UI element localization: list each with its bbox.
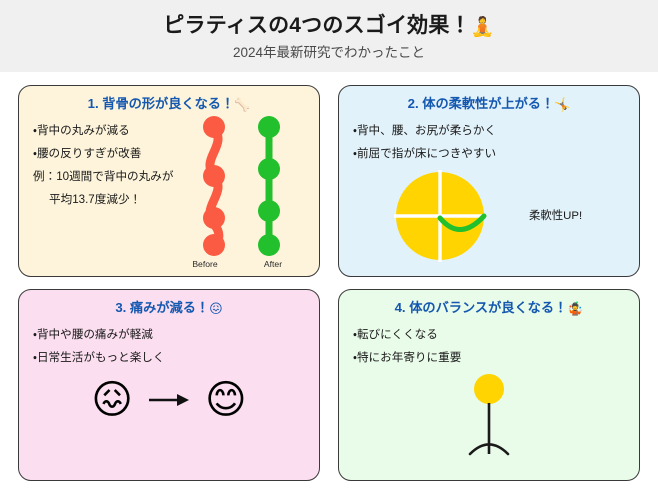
list-item: ・日常生活がもっと楽しく <box>33 351 319 365</box>
list-item: ・前屈で指が床につきやすい <box>353 147 639 161</box>
face-before-icon: 😖 <box>91 380 133 420</box>
spine-after-node <box>258 200 280 222</box>
page-title: ピラティスの4つのスゴイ効果！🧘 <box>163 14 494 39</box>
card-title-text: 4. 体のバランスが良くなる！ <box>395 300 568 315</box>
spine-before-label: Before <box>175 259 235 269</box>
balance-figure <box>339 372 639 462</box>
spine-comparison-figure: Before After <box>181 114 301 269</box>
bone-icon: 🦴 <box>234 97 250 112</box>
confounded-face-icon: 😖 <box>209 301 223 316</box>
list-item: ・特にお年寄りに重要 <box>353 351 639 365</box>
benefit-card-grid: 1. 背骨の形が良くなる！🦴 ・背中の丸みが減る ・腰の反りすぎが改善 例：10… <box>0 72 658 489</box>
spine-before-node <box>203 234 225 256</box>
list-item: ・転びにくくなる <box>353 328 639 342</box>
arrow-right-icon <box>147 392 191 408</box>
balance-head <box>474 374 504 404</box>
juggler-icon: 🤹 <box>567 301 583 316</box>
page-title-text: ピラティスの4つのスゴイ効果！ <box>163 14 470 37</box>
list-item: ・背中や腰の痛みが軽減 <box>33 328 319 342</box>
yoga-icon: 🧘 <box>471 17 495 38</box>
spine-before-node <box>203 207 225 229</box>
bullet-list-flexibility: ・背中、腰、お尻が柔らかく ・前屈で指が床につきやすい <box>339 124 639 161</box>
card-flexibility: 2. 体の柔軟性が上がる！🤸 ・背中、腰、お尻が柔らかく ・前屈で指が床につきや… <box>338 85 640 277</box>
spine-comparison-svg <box>181 114 301 259</box>
card-balance: 4. 体のバランスが良くなる！🤹 ・転びにくくなる ・特にお年寄りに重要 <box>338 289 640 481</box>
card-spine-shape: 1. 背骨の形が良くなる！🦴 ・背中の丸みが減る ・腰の反りすぎが改善 例：10… <box>18 85 320 277</box>
spine-before-node <box>203 116 225 138</box>
card-pain-reduction: 3. 痛みが減る！😖 ・背中や腰の痛みが軽減 ・日常生活がもっと楽しく 😖 😊 <box>18 289 320 481</box>
page-header: ピラティスの4つのスゴイ効果！🧘 2024年最新研究でわかったこと <box>0 0 658 72</box>
balance-figure-svg <box>444 372 534 462</box>
page-subtitle: 2024年最新研究でわかったこと <box>233 46 425 61</box>
card-title-balance: 4. 体のバランスが良くなる！🤹 <box>339 301 639 316</box>
face-transition-figure: 😖 😊 <box>19 380 319 420</box>
gymnast-icon: 🤸 <box>554 97 570 112</box>
card-title-pain-reduction: 3. 痛みが減る！😖 <box>19 301 319 316</box>
spine-after-node <box>258 116 280 138</box>
card-title-flexibility: 2. 体の柔軟性が上がる！🤸 <box>339 97 639 112</box>
flexibility-caption: 柔軟性UP! <box>529 207 582 223</box>
card-title-text: 3. 痛みが減る！ <box>115 300 209 315</box>
card-title-text: 2. 体の柔軟性が上がる！ <box>408 96 555 111</box>
spine-after-graphic <box>258 116 280 256</box>
spine-after-node <box>258 158 280 180</box>
flexibility-figure: 柔軟性UP! <box>387 166 627 270</box>
spine-after-node <box>258 234 280 256</box>
list-item: ・背中、腰、お尻が柔らかく <box>353 124 639 138</box>
spine-after-label: After <box>243 259 303 269</box>
bullet-list-balance: ・転びにくくなる ・特にお年寄りに重要 <box>339 328 639 365</box>
flexibility-circle-svg <box>387 166 517 266</box>
card-title-spine-shape: 1. 背骨の形が良くなる！🦴 <box>19 97 319 112</box>
arrow-head <box>177 394 189 406</box>
spine-before-graphic <box>203 116 225 256</box>
bullet-list-pain-reduction: ・背中や腰の痛みが軽減 ・日常生活がもっと楽しく <box>19 328 319 365</box>
card-title-text: 1. 背骨の形が良くなる！ <box>88 96 235 111</box>
spine-before-node <box>203 165 225 187</box>
face-after-icon: 😊 <box>205 380 247 420</box>
